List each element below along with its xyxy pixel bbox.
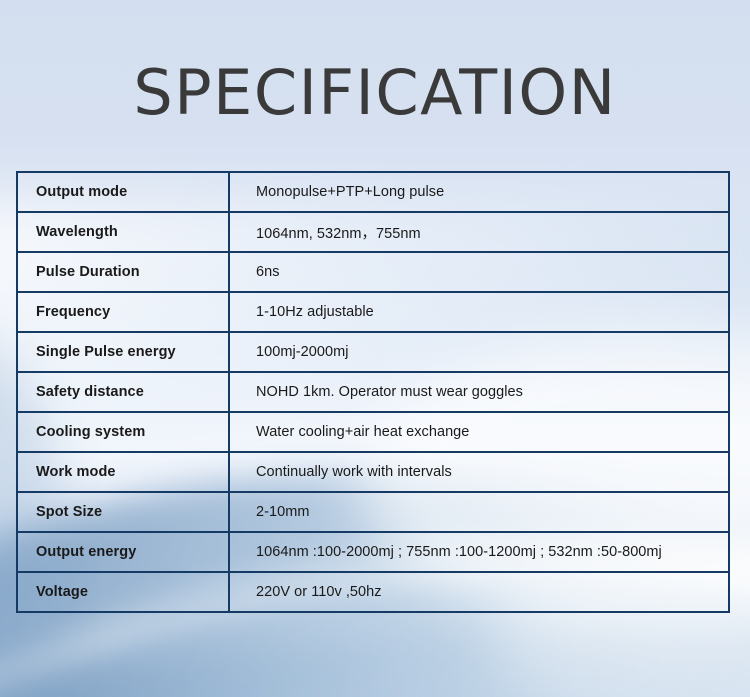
row-value: 1-10Hz adjustable — [229, 292, 729, 332]
row-parameter: Voltage — [17, 572, 229, 612]
table-row: Work mode Continually work with interval… — [17, 452, 729, 492]
row-value: 220V or 110v ,50hz — [229, 572, 729, 612]
row-value: 6ns — [229, 252, 729, 292]
row-value: 2-10mm — [229, 492, 729, 532]
row-parameter: Cooling system — [17, 412, 229, 452]
table-row: Cooling system Water cooling+air heat ex… — [17, 412, 729, 452]
row-value: Water cooling+air heat exchange — [229, 412, 729, 452]
specification-page: SPECIFICATION Output mode Monopulse+PTP+… — [0, 0, 750, 697]
specification-table: Output mode Monopulse+PTP+Long pulse Wav… — [16, 171, 730, 613]
row-value: Monopulse+PTP+Long pulse — [229, 172, 729, 212]
page-title: SPECIFICATION — [0, 62, 750, 124]
table-row: Frequency 1-10Hz adjustable — [17, 292, 729, 332]
table-row: Safety distance NOHD 1km. Operator must … — [17, 372, 729, 412]
row-parameter: Pulse Duration — [17, 252, 229, 292]
table-row: Spot Size 2-10mm — [17, 492, 729, 532]
specification-table-body: Output mode Monopulse+PTP+Long pulse Wav… — [17, 172, 729, 612]
row-value: 1064nm :100-2000mj ; 755nm :100-1200mj ;… — [229, 532, 729, 572]
row-value: Continually work with intervals — [229, 452, 729, 492]
row-value: 100mj-2000mj — [229, 332, 729, 372]
row-value: NOHD 1km. Operator must wear goggles — [229, 372, 729, 412]
row-parameter: Work mode — [17, 452, 229, 492]
row-parameter: Spot Size — [17, 492, 229, 532]
table-row: Single Pulse energy 100mj-2000mj — [17, 332, 729, 372]
table-row: Voltage 220V or 110v ,50hz — [17, 572, 729, 612]
table-row: Output energy 1064nm :100-2000mj ; 755nm… — [17, 532, 729, 572]
row-parameter: Wavelength — [17, 212, 229, 252]
row-parameter: Frequency — [17, 292, 229, 332]
row-value: 1064nm, 532nm，755nm — [229, 212, 729, 252]
row-parameter: Output energy — [17, 532, 229, 572]
table-row: Wavelength 1064nm, 532nm，755nm — [17, 212, 729, 252]
row-parameter: Output mode — [17, 172, 229, 212]
table-row: Pulse Duration 6ns — [17, 252, 729, 292]
table-row: Output mode Monopulse+PTP+Long pulse — [17, 172, 729, 212]
row-parameter: Safety distance — [17, 372, 229, 412]
row-parameter: Single Pulse energy — [17, 332, 229, 372]
